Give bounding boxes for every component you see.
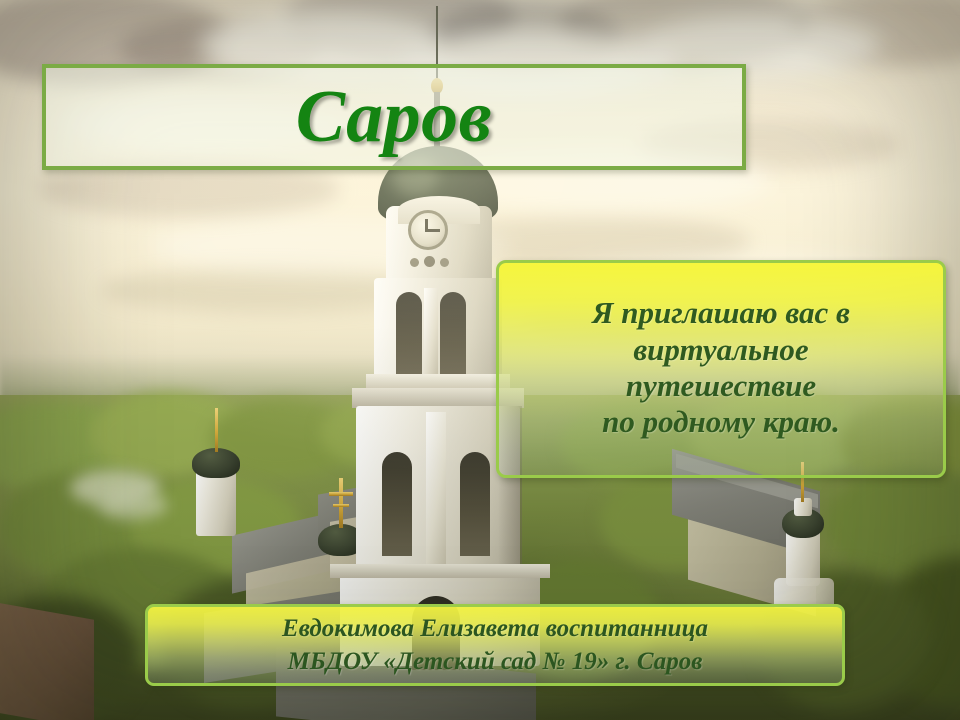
title-banner: Саров: [42, 64, 746, 170]
lower-cupola-cross-icon: [339, 478, 343, 528]
clock-stage-ornament: [410, 258, 419, 267]
author-credit-banner: Евдокимова Елизавета воспитанница МБДОУ …: [145, 604, 845, 686]
lower-cupola-cross-bar: [333, 504, 349, 507]
presentation-slide: Саров Я приглашаю вас в виртуальное путе…: [0, 0, 960, 720]
small-chapel-body: [196, 470, 236, 536]
page-title: Саров: [296, 80, 492, 154]
author-organization: МБДОУ «Детский сад № 19» г. Саров: [288, 645, 703, 679]
shaft-arch-window: [460, 452, 490, 556]
belfry-arch-opening: [396, 292, 422, 376]
invitation-line: путешествие: [626, 368, 816, 404]
invitation-line: Я приглашаю вас в: [592, 295, 850, 331]
small-chapel-cross-icon: [215, 408, 218, 452]
invitation-line: по родному краю.: [602, 404, 840, 440]
shaft-pilaster: [426, 412, 446, 576]
belfry-column: [424, 288, 438, 380]
author-name: Евдокимова Елизавета воспитанница: [282, 612, 708, 646]
brick-building: [0, 600, 94, 720]
clock-stage-ornament: [440, 258, 449, 267]
clock-stage-ornament: [424, 256, 435, 267]
small-chapel-dome: [192, 448, 240, 478]
base-cornice: [330, 564, 550, 578]
invitation-callout: Я приглашаю вас в виртуальное путешестви…: [496, 260, 946, 478]
lower-cupola-cross-bar: [329, 492, 353, 496]
belfry-arch-opening: [440, 292, 466, 376]
invitation-line: виртуальное: [633, 332, 808, 368]
shaft-arch-window: [382, 452, 412, 556]
clock-hand-minute: [427, 229, 440, 232]
